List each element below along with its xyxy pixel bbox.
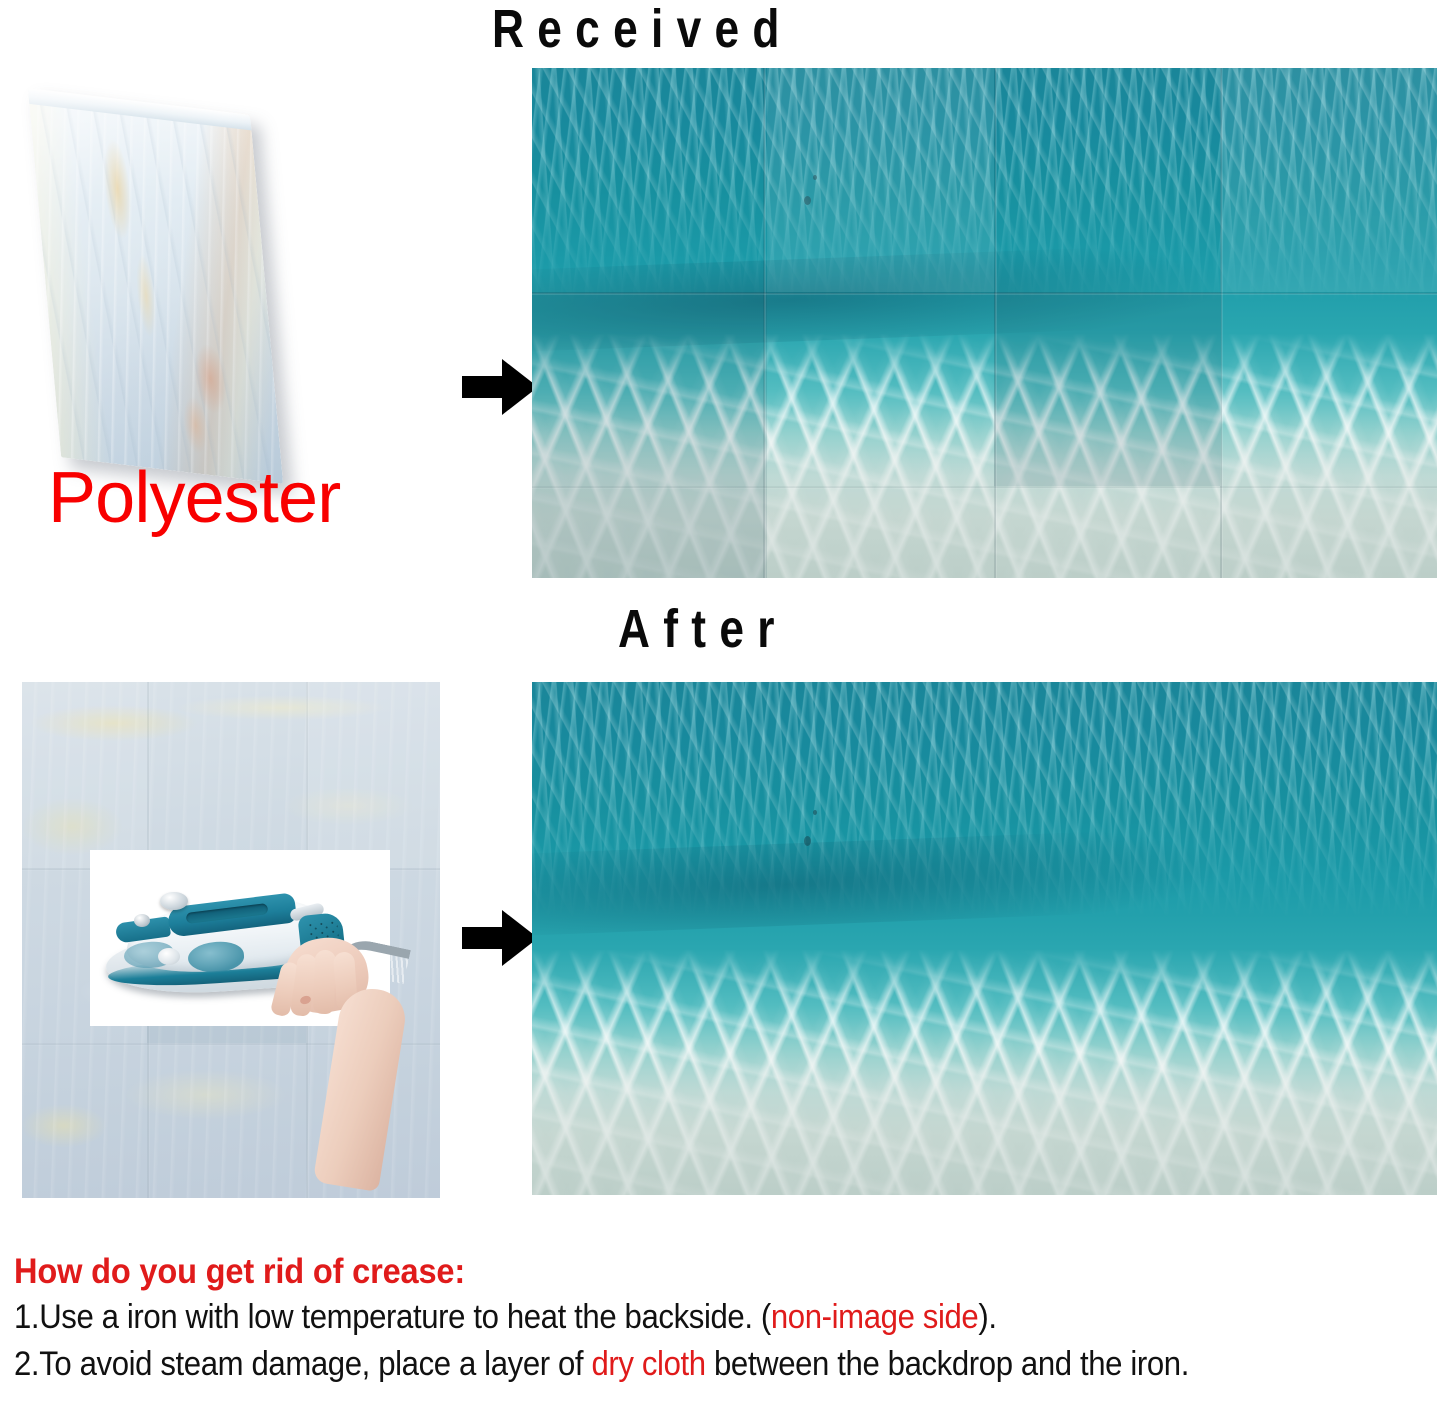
after-heading: After: [618, 602, 788, 656]
received-heading: Received: [492, 2, 793, 56]
arrow-right-icon: [462, 359, 538, 415]
care-instructions: How do you get rid of crease: 1.Use a ir…: [14, 1252, 1434, 1386]
iron-inset-card: [90, 850, 390, 1026]
iron-steam-knob: [160, 892, 188, 910]
received-backdrop-photo: [532, 68, 1437, 578]
sandy-seabed-haze: [532, 1021, 1437, 1195]
instruction-line-2-suffix: between the backdrop and the iron.: [706, 1345, 1189, 1383]
instruction-line-2-highlight: dry cloth: [591, 1345, 705, 1383]
arrow-shaft: [462, 376, 506, 398]
hand-icon: [276, 936, 406, 1186]
instruction-line-1-prefix: 1.Use a iron with low temperature to hea…: [14, 1298, 771, 1336]
instruction-line-1-highlight: non-image side: [771, 1298, 978, 1336]
instruction-line-1-suffix: ).: [978, 1298, 996, 1336]
after-backdrop-photo: [532, 682, 1437, 1195]
folded-fabric-photo: [10, 78, 430, 478]
instructions-title: How do you get rid of crease:: [14, 1252, 1335, 1291]
folded-fabric-swatch: [28, 88, 283, 484]
forearm: [313, 984, 409, 1192]
hand-finger: [313, 950, 336, 1015]
instruction-line-1: 1.Use a iron with low temperature to hea…: [14, 1296, 1313, 1338]
iron-spray-button: [134, 914, 150, 927]
water-speck: [813, 175, 817, 180]
water-speck: [804, 196, 811, 205]
iron-temperature-dial: [158, 948, 180, 965]
product-instruction-infographic: Received Polyester: [0, 0, 1437, 1401]
arrow-right-icon: [462, 910, 538, 966]
arrow-shaft: [462, 927, 506, 949]
fabric-sheen: [28, 88, 283, 484]
instruction-line-2: 2.To avoid steam damage, place a layer o…: [14, 1343, 1313, 1385]
polyester-material-label: Polyester: [48, 462, 340, 534]
water-speck: [813, 810, 817, 815]
water-speck: [804, 836, 811, 846]
instruction-line-2-prefix: 2.To avoid steam damage, place a layer o…: [14, 1345, 591, 1383]
sandy-seabed-haze: [532, 405, 1437, 578]
